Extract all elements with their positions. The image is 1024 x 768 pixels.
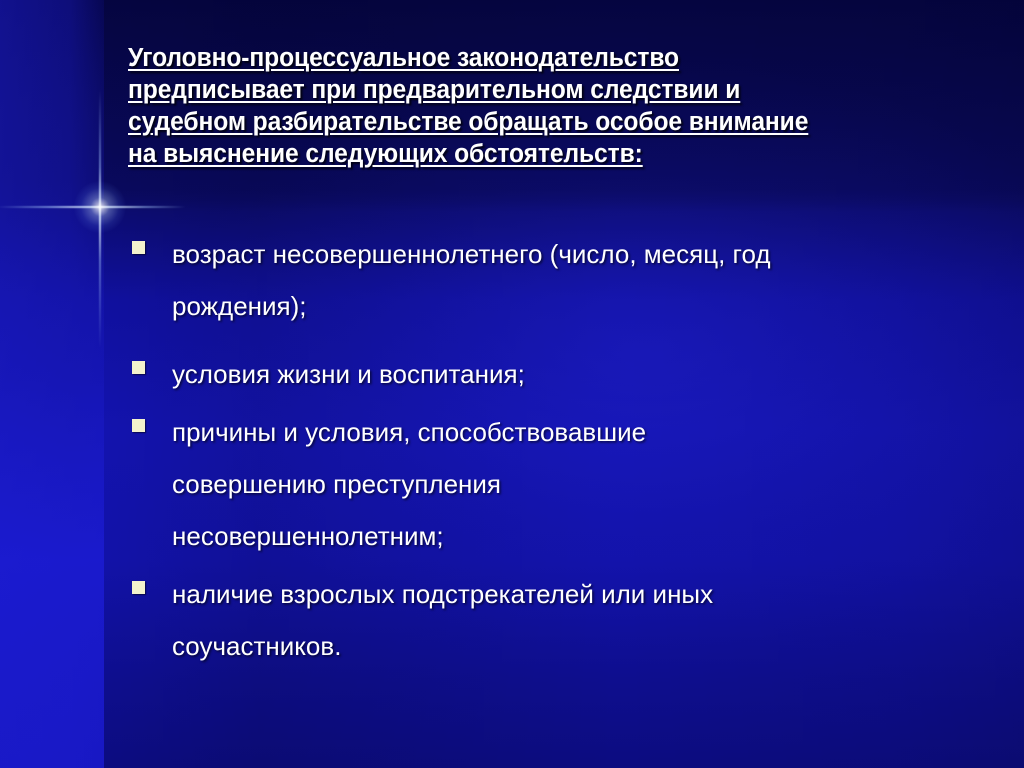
bullet-square-icon — [132, 241, 145, 254]
slide-title-line-4: на выяснение следующих обстоятельств: — [128, 138, 923, 170]
slide-title-line-1: Уголовно-процессуальное законодательство — [128, 42, 923, 74]
list-item: причины и условия, способствовавшие сове… — [130, 406, 970, 562]
slide-title-line-3: судебном разбирательстве обращать особое… — [128, 106, 923, 138]
bullet-list: возраст несовершеннолетнего (число, меся… — [130, 228, 970, 678]
list-item-text: возраст несовершеннолетнего (число, меся… — [172, 228, 970, 332]
list-item-text: условия жизни и воспитания; — [172, 348, 970, 400]
bullet-square-icon — [132, 419, 145, 432]
list-item: возраст несовершеннолетнего (число, меся… — [130, 228, 970, 332]
list-item: наличие взрослых подстрекателей или иных… — [130, 568, 970, 672]
bullet-square-icon — [132, 581, 145, 594]
slide-title: Уголовно-процессуальное законодательство… — [128, 42, 952, 170]
slide-title-line-2: предписывает при предварительном следств… — [128, 74, 923, 106]
list-item: условия жизни и воспитания; — [130, 348, 970, 400]
background-left-panel — [0, 0, 104, 768]
slide-canvas: Уголовно-процессуальное законодательство… — [0, 0, 1024, 768]
bullet-square-icon — [132, 361, 145, 374]
list-item-text: наличие взрослых подстрекателей или иных… — [172, 568, 970, 672]
list-item-text: причины и условия, способствовавшие сове… — [172, 406, 970, 562]
